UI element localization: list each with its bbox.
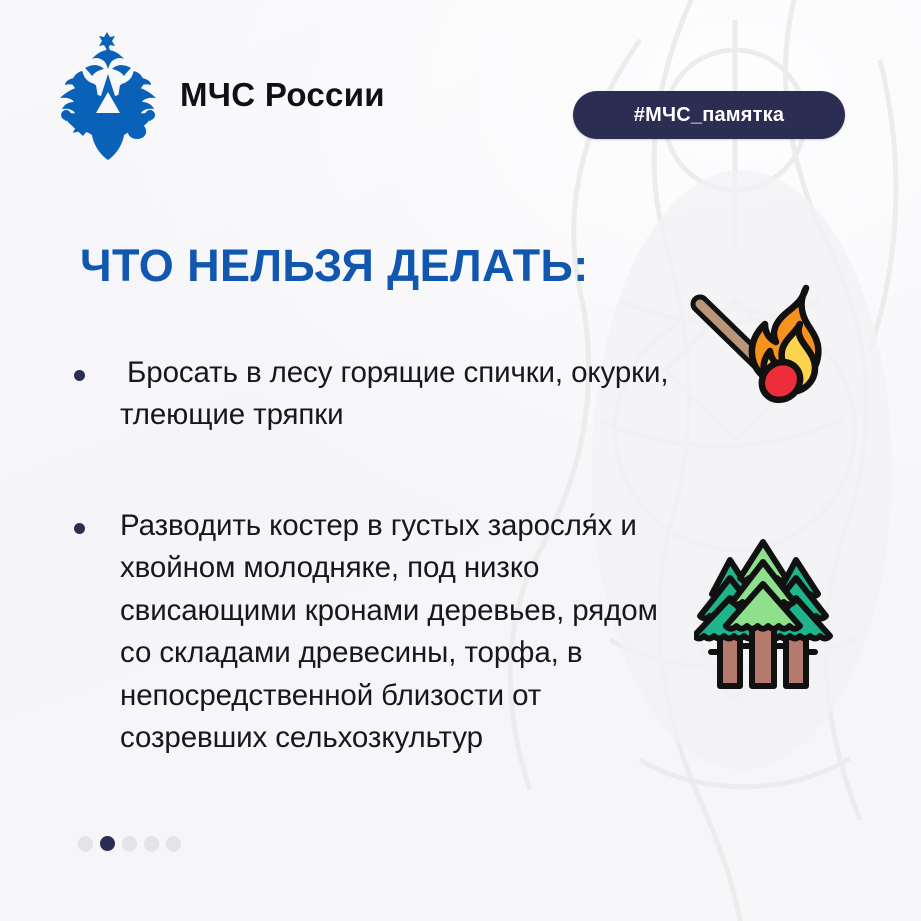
- brand-lockup: МЧС России: [52, 30, 385, 162]
- brand-title: МЧС России: [180, 78, 385, 115]
- list-item: Разводить костер в густых заросля́х и хв…: [74, 505, 694, 760]
- infographic-card: МЧС России #МЧС_памятка ЧТО НЕЛЬЗЯ ДЕЛАТ…: [0, 0, 921, 921]
- list-item: Бросать в лесу горящие спички, окурки, т…: [74, 352, 694, 437]
- prohibitions-list: Бросать в лесу горящие спички, окурки, т…: [74, 352, 694, 760]
- page-dot-1[interactable]: [78, 836, 93, 851]
- page-dot-4[interactable]: [144, 836, 159, 851]
- list-item-text: Разводить костер в густых заросля́х и хв…: [120, 505, 694, 760]
- page-dot-2[interactable]: [100, 836, 115, 851]
- page-title: ЧТО НЕЛЬЗЯ ДЕЛАТЬ:: [80, 240, 589, 292]
- bullet-dot-icon: [74, 370, 85, 381]
- header: МЧС России #МЧС_памятка: [0, 0, 921, 175]
- list-item-text: Бросать в лесу горящие спички, окурки, т…: [120, 352, 694, 437]
- hashtag-badge-label: #МЧС_памятка: [634, 104, 784, 127]
- burning-match-icon: [688, 280, 833, 405]
- emercom-eagle-emblem-icon: [52, 30, 164, 162]
- hashtag-badge[interactable]: #МЧС_памятка: [573, 91, 845, 139]
- bullet-dot-icon: [74, 523, 85, 534]
- pagination-dots[interactable]: [78, 836, 181, 851]
- conifer-trees-icon: [694, 534, 834, 692]
- page-dot-5[interactable]: [166, 836, 181, 851]
- page-dot-3[interactable]: [122, 836, 137, 851]
